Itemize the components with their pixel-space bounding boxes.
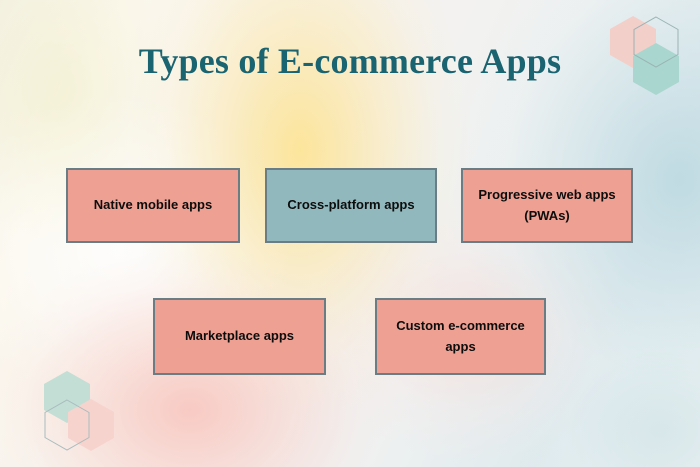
hexagon-outline-icon bbox=[44, 399, 90, 451]
box-marketplace-apps[interactable]: Marketplace apps bbox=[153, 298, 326, 375]
page-title: Types of E-commerce Apps bbox=[0, 40, 700, 82]
box-label: Marketplace apps bbox=[185, 326, 294, 346]
box-label: Cross-platform apps bbox=[287, 195, 414, 215]
box-label: Native mobile apps bbox=[94, 195, 212, 215]
slide-canvas: Types of E-commerce Apps Native mobile a… bbox=[0, 0, 700, 467]
box-native-mobile-apps[interactable]: Native mobile apps bbox=[66, 168, 240, 243]
hexagon-cluster-bottom-left bbox=[32, 367, 112, 457]
box-cross-platform-apps[interactable]: Cross-platform apps bbox=[265, 168, 437, 243]
box-label: Progressive web apps (PWAs) bbox=[471, 185, 623, 225]
box-progressive-web-apps[interactable]: Progressive web apps (PWAs) bbox=[461, 168, 633, 243]
box-label: Custom e-commerce apps bbox=[385, 316, 536, 356]
box-custom-e-commerce-apps[interactable]: Custom e-commerce apps bbox=[375, 298, 546, 375]
